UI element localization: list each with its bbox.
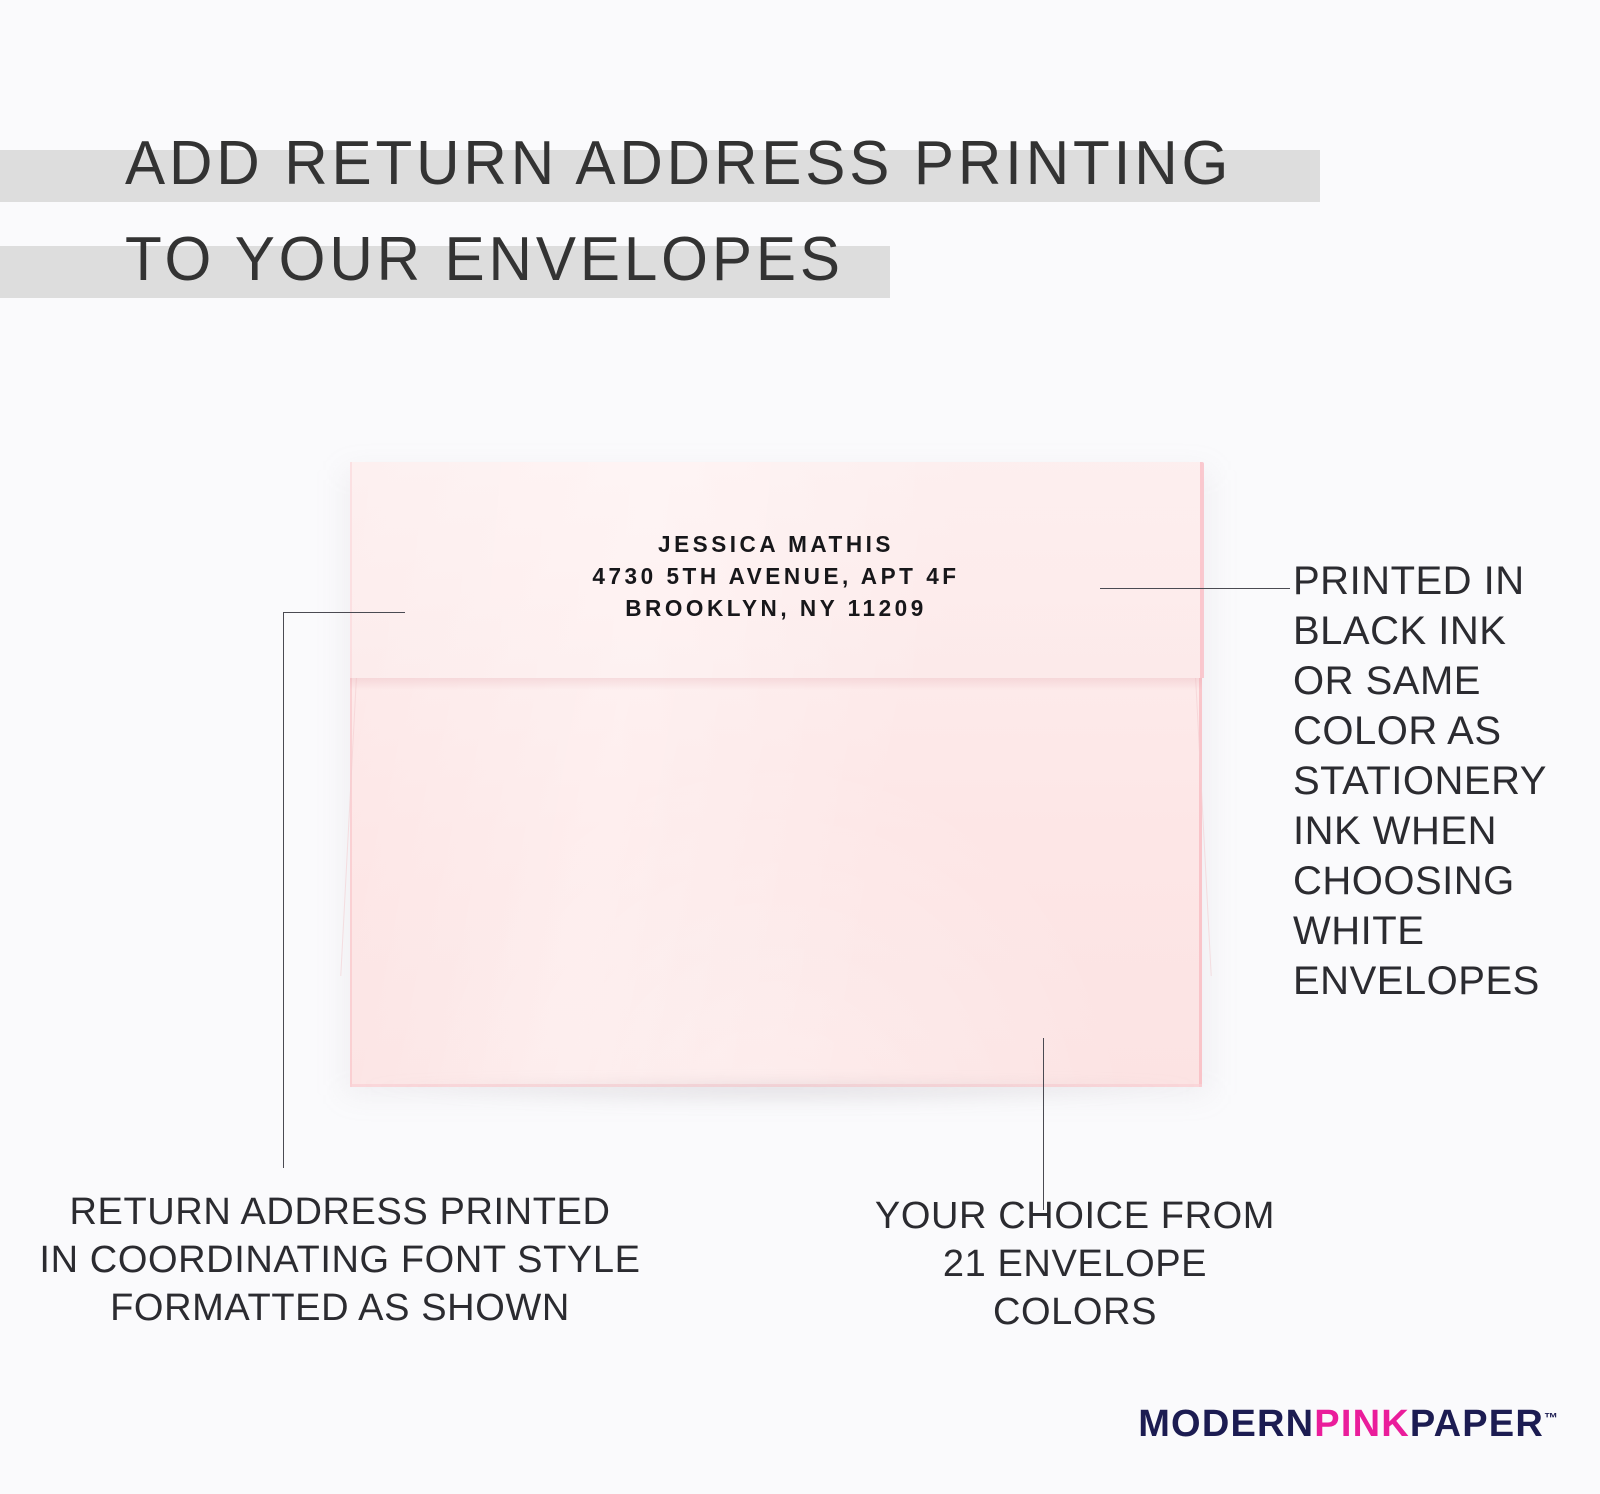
envelope-flap-shadow [350, 676, 1202, 690]
annotation-right-line-2: BLACK INK [1293, 606, 1593, 656]
envelope-body-sheen [350, 676, 1202, 1087]
return-address-line-name: JESSICA MATHIS [359, 528, 1194, 560]
leader-line-left-horizontal [283, 612, 405, 613]
annotation-right-line-5: STATIONERY [1293, 756, 1593, 806]
logo-part-pink: PINK [1314, 1403, 1410, 1445]
annotation-bottom-mid-line-1: YOUR CHOICE FROM [860, 1192, 1290, 1240]
annotation-right-line-7: CHOOSING [1293, 856, 1593, 906]
envelope-bottom-shadow [360, 1082, 1200, 1108]
annotation-right-line-9: ENVELOPES [1293, 956, 1593, 1006]
envelope-mockup: JESSICA MATHIS 4730 5TH AVENUE, APT 4F B… [350, 462, 1202, 1087]
return-address-block: JESSICA MATHIS 4730 5TH AVENUE, APT 4F B… [350, 528, 1202, 624]
annotation-bottom-left-line-1: RETURN ADDRESS PRINTED [0, 1188, 680, 1236]
leader-line-middle-vertical [1043, 1038, 1044, 1210]
leader-line-right-horizontal [1100, 588, 1290, 589]
annotation-right-line-6: INK WHEN [1293, 806, 1593, 856]
logo-part-modern: MODERN [1138, 1403, 1314, 1445]
annotation-bottom-left-line-3: FORMATTED AS SHOWN [0, 1284, 680, 1332]
envelope-body [350, 676, 1202, 1087]
annotation-right-line-1: PRINTED IN [1293, 556, 1593, 606]
annotation-right-line-8: WHITE [1293, 906, 1593, 956]
annotation-right-line-3: OR SAME [1293, 656, 1593, 706]
return-address-line-street: 4730 5TH AVENUE, APT 4F [359, 560, 1194, 592]
envelope-body-left-edge [350, 676, 352, 1087]
page-title: ADD RETURN ADDRESS PRINTING TO YOUR ENVE… [0, 140, 1400, 332]
brand-logo: MODERNPINKPAPER™ [1138, 1403, 1558, 1446]
annotation-return-address-style: RETURN ADDRESS PRINTED IN COORDINATING F… [0, 1188, 680, 1332]
title-text-line-1: ADD RETURN ADDRESS PRINTING [125, 128, 1232, 199]
annotation-right-line-4: COLOR AS [1293, 706, 1593, 756]
annotation-bottom-mid-line-2: 21 ENVELOPE COLORS [860, 1240, 1290, 1336]
title-text-line-2: TO YOUR ENVELOPES [125, 224, 844, 295]
trademark-symbol: ™ [1544, 1409, 1558, 1425]
annotation-bottom-left-line-2: IN COORDINATING FONT STYLE [0, 1236, 680, 1284]
return-address-line-city: BROOKLYN, NY 11209 [359, 592, 1194, 624]
annotation-envelope-colors: YOUR CHOICE FROM 21 ENVELOPE COLORS [860, 1192, 1290, 1336]
leader-line-left-vertical [283, 612, 284, 1168]
annotation-printed-ink: PRINTED IN BLACK INK OR SAME COLOR AS ST… [1293, 556, 1593, 1006]
envelope-flap: JESSICA MATHIS 4730 5TH AVENUE, APT 4F B… [350, 462, 1202, 678]
title-line-2: TO YOUR ENVELOPES [0, 236, 1400, 332]
envelope-body-right-edge [1199, 676, 1202, 1087]
title-line-1: ADD RETURN ADDRESS PRINTING [0, 140, 1400, 236]
logo-part-paper: PAPER [1410, 1403, 1544, 1445]
